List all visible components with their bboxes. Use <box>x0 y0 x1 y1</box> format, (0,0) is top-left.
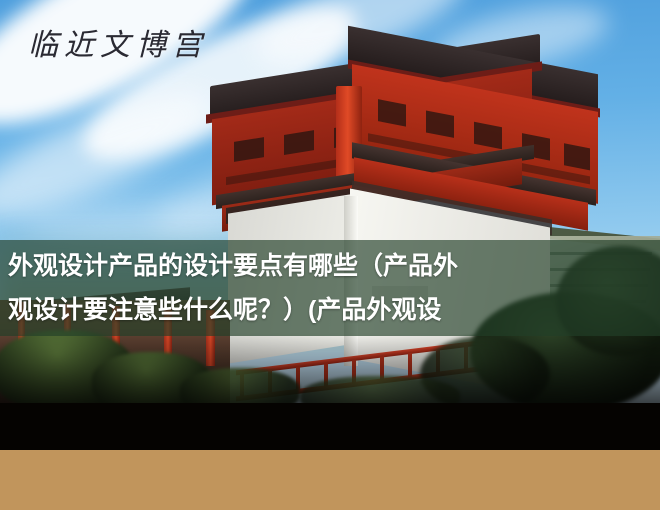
footer-band: 一根简单的曲线却可以带来最舒服的生活体验， 二十一世纪之前的人无法理解。 <box>0 450 660 510</box>
title-overlay-line-2: 观设计要注意些什么呢？）(产品外观设 <box>8 288 652 332</box>
temple-photograph: 临近文博宫 外观设计产品的设计要点有哪些（产品外 观设计要注意些什么呢？）(产品… <box>0 0 660 403</box>
shrub-foliage <box>180 368 300 403</box>
title-overlay-band: 外观设计产品的设计要点有哪些（产品外 观设计要注意些什么呢？）(产品外观设 <box>0 240 660 336</box>
screenshot-root: 临近文博宫 外观设计产品的设计要点有哪些（产品外 观设计要注意些什么呢？）(产品… <box>0 0 660 510</box>
title-overlay-line-1: 外观设计产品的设计要点有哪些（产品外 <box>8 244 652 288</box>
black-divider-band <box>0 403 660 450</box>
shrub-foliage <box>300 376 460 403</box>
handwritten-watermark-text: 临近文博宫 <box>28 31 208 61</box>
